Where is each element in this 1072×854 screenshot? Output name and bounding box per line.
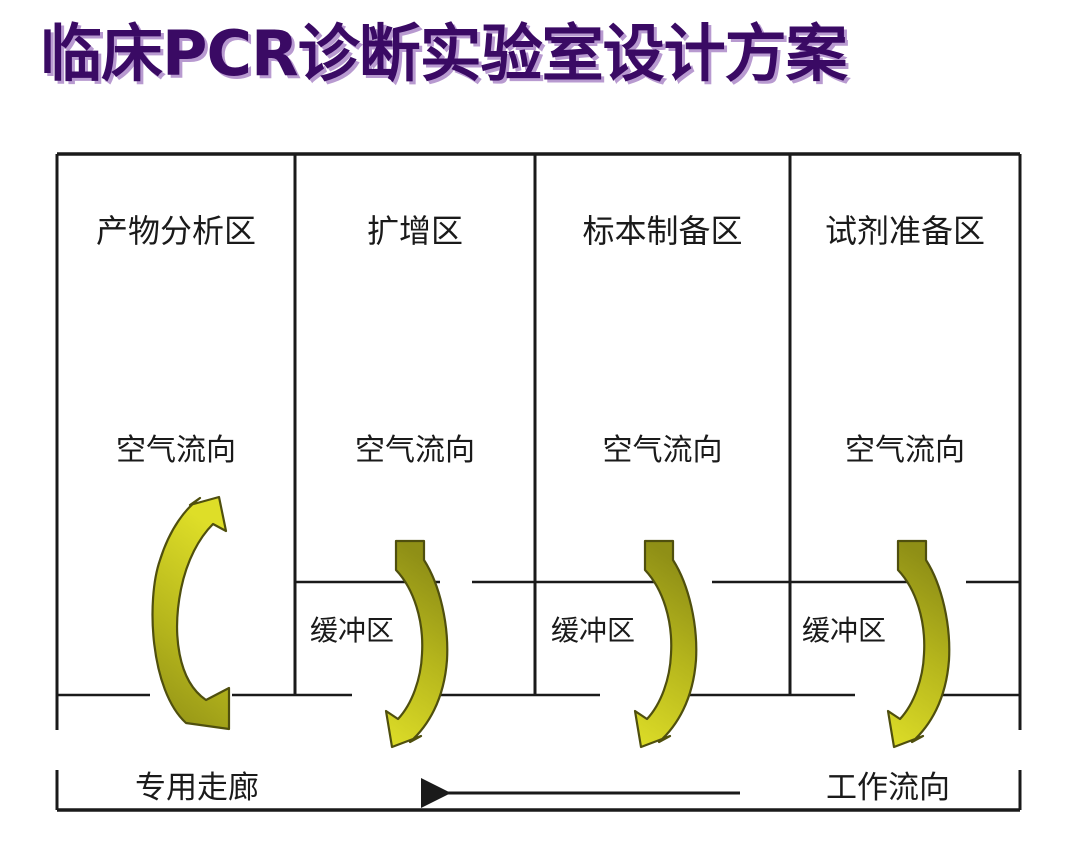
air-flow-label-amplification: 空气流向: [295, 425, 535, 469]
workflow-label: 工作流向: [826, 762, 950, 807]
buffer-label-reagent-preparation: 缓冲区: [802, 609, 886, 649]
pcr-lab-floor-plan-diagram: 产物分析区 扩增区 标本制备区 试剂准备区 空气流向 空气流向 空气流向 空气流…: [0, 0, 1072, 854]
zone-label-amplification: 扩增区: [295, 206, 535, 252]
buffer-label-amplification: 缓冲区: [310, 609, 394, 649]
air-flow-label-reagent-preparation: 空气流向: [790, 425, 1020, 469]
zone-label-specimen-preparation: 标本制备区: [535, 206, 790, 252]
air-flow-label-specimen-preparation: 空气流向: [535, 425, 790, 469]
air-flow-arrow-specimen-preparation: [635, 541, 696, 747]
zone-label-reagent-preparation: 试剂准备区: [790, 206, 1020, 252]
buffer-label-specimen-preparation: 缓冲区: [551, 609, 635, 649]
air-flow-label-product-analysis: 空气流向: [57, 425, 295, 469]
air-flow-arrow-product-analysis: [153, 497, 229, 729]
air-flow-arrow-amplification: [386, 541, 447, 747]
zone-label-product-analysis: 产物分析区: [57, 206, 295, 252]
air-flow-arrow-reagent-preparation: [888, 541, 949, 747]
corridor-label: 专用走廊: [135, 762, 259, 807]
